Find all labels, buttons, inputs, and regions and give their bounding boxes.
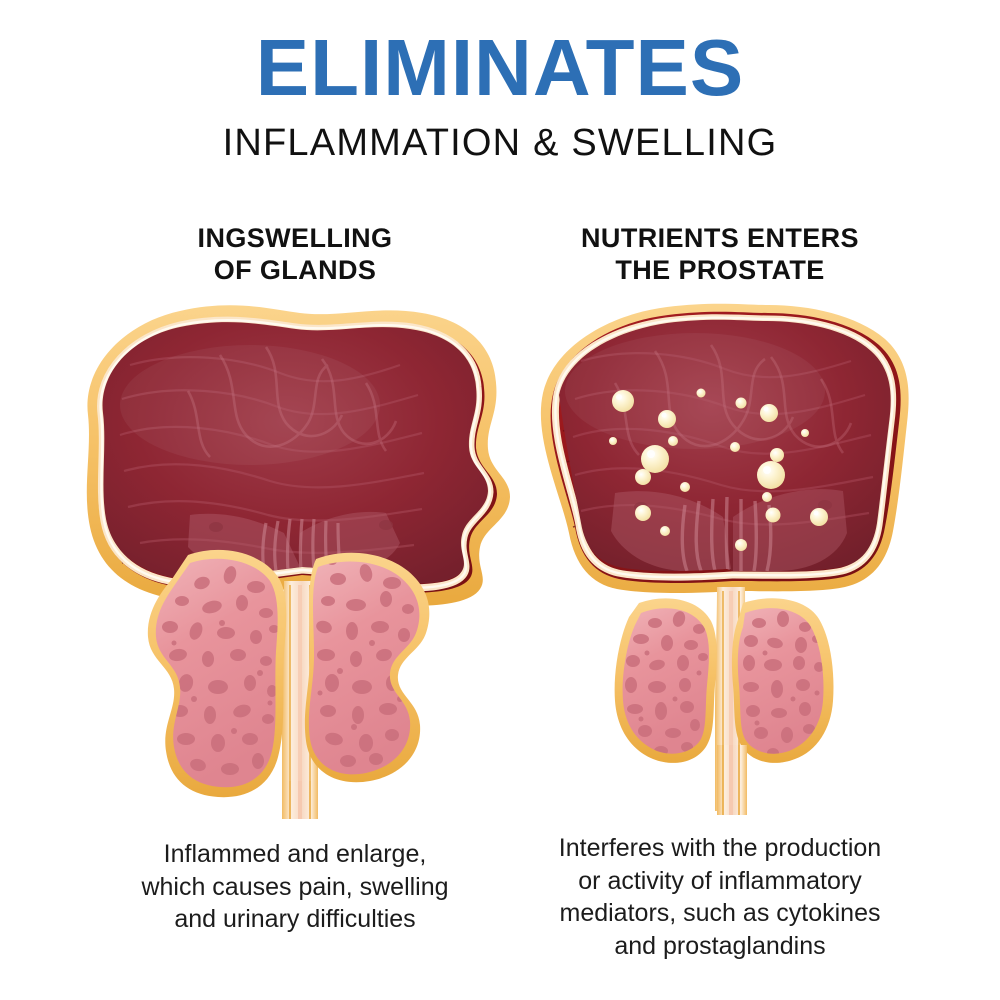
panel-heading-left: INGSWELLING OF GLANDS	[95, 222, 495, 287]
nutrient-particle	[635, 469, 651, 485]
nutrient-particle	[757, 461, 785, 489]
panel-heading-right: NUTRIENTS ENTERS THE PROSTATE	[520, 222, 920, 287]
nutrient-particle	[658, 410, 676, 428]
panel-heading-right-line2: THE PROSTATE	[520, 254, 920, 286]
caption-right-line2: or activity of inflammatory	[500, 865, 940, 898]
caption-right: Interferes with the production or activi…	[500, 832, 940, 962]
nutrient-particle	[810, 508, 828, 526]
nutrient-particle	[766, 508, 781, 523]
nutrient-particle	[635, 505, 651, 521]
infographic-page: ELIMINATES INFLAMMATION & SWELLING INGSW…	[0, 0, 1000, 1000]
page-title: ELIMINATES	[0, 28, 1000, 108]
caption-right-line3: mediators, such as cytokines	[500, 897, 940, 930]
caption-left-line3: and urinary difficulties	[80, 903, 510, 936]
caption-left-line2: which causes pain, swelling	[80, 871, 510, 904]
nutrient-particle	[736, 398, 747, 409]
caption-right-line1: Interferes with the production	[500, 832, 940, 865]
caption-left: Inflammed and enlarge, which causes pain…	[80, 838, 510, 936]
page-subtitle: INFLAMMATION & SWELLING	[0, 124, 1000, 162]
nutrient-particle	[801, 429, 809, 437]
nutrient-particle	[641, 445, 669, 473]
nutrient-particle	[730, 442, 740, 452]
nutrient-particle	[609, 437, 617, 445]
urethra-core-left	[298, 585, 302, 813]
caption-right-line4: and prostaglandins	[500, 930, 940, 963]
panel-heading-left-line2: OF GLANDS	[95, 254, 495, 286]
nutrient-particle	[680, 482, 690, 492]
panel-heading-right-line1: NUTRIENTS ENTERS	[581, 223, 859, 253]
urethra-tube-core-right	[729, 745, 733, 815]
nutrient-particle	[660, 526, 670, 536]
nutrient-particle	[735, 539, 747, 551]
nutrient-particle	[760, 404, 778, 422]
nutrient-particle	[612, 390, 634, 412]
nutrient-particle	[697, 389, 706, 398]
nutrient-particle	[770, 448, 784, 462]
header: ELIMINATES INFLAMMATION & SWELLING	[0, 0, 1000, 162]
caption-left-line1: Inflammed and enlarge,	[80, 838, 510, 871]
nutrient-particle	[668, 436, 678, 446]
urethra-tube-core-left	[298, 781, 302, 819]
panel-heading-left-line1: INGSWELLING	[198, 223, 393, 253]
illustration-healthy-prostate	[495, 295, 955, 825]
illustration-inflamed-prostate	[70, 295, 530, 825]
nutrient-particle	[762, 492, 772, 502]
